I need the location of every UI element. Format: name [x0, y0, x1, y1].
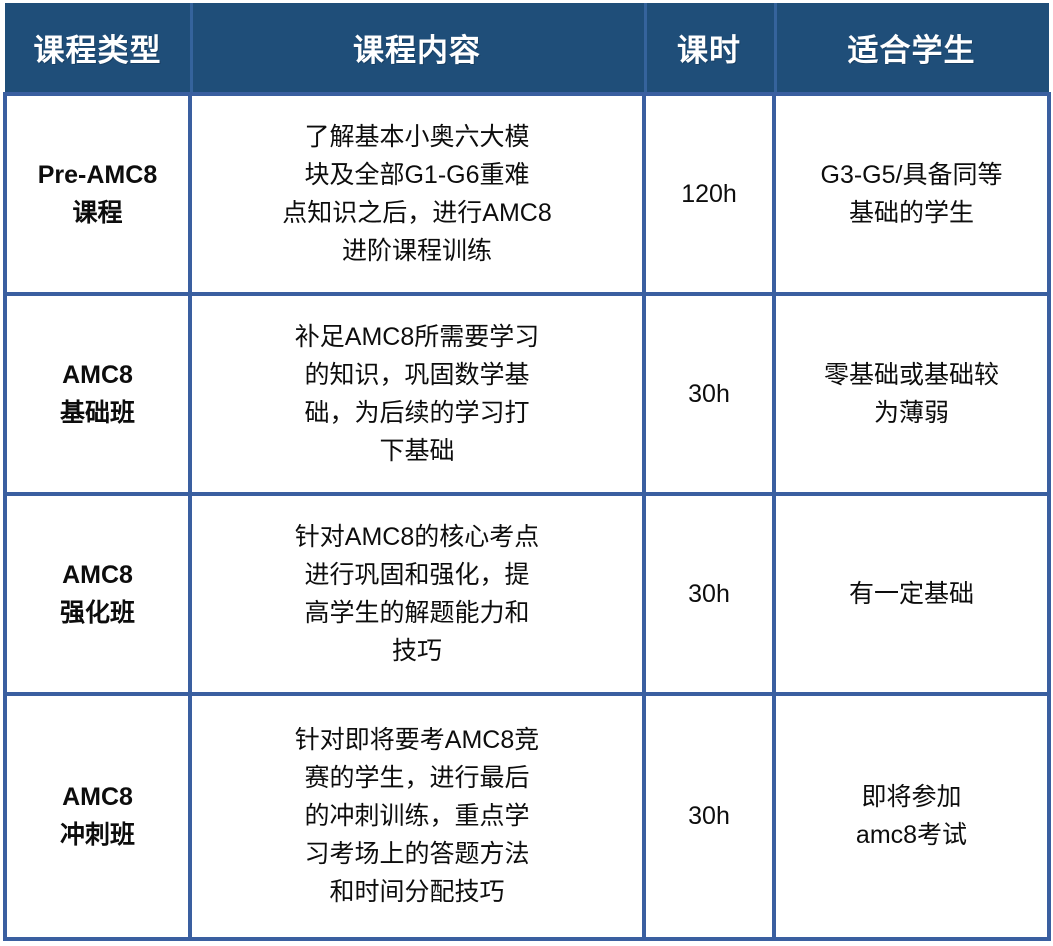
course-content-line: 下基础 [200, 432, 634, 470]
course-content-line: 补足AMC8所需要学习 [200, 318, 634, 356]
suitable-students-line: 即将参加 [784, 778, 1039, 816]
cell-course-content: 补足AMC8所需要学习 的知识，巩固数学基 础，为后续的学习打 下基础 [190, 294, 644, 494]
course-content-line: 础，为后续的学习打 [200, 394, 634, 432]
cell-course-type: AMC8 冲刺班 [5, 694, 190, 939]
cell-course-content: 针对即将要考AMC8竞 赛的学生，进行最后 的冲刺训练，重点学 习考场上的答题方… [190, 694, 644, 939]
course-content-line: 进行巩固和强化，提 [200, 556, 634, 594]
table-row: Pre-AMC8 课程 了解基本小奥六大模 块及全部G1-G6重难 点知识之后，… [5, 94, 1049, 294]
course-content-line: 赛的学生，进行最后 [200, 759, 634, 797]
cell-suitable-students: G3-G5/具备同等 基础的学生 [774, 94, 1049, 294]
course-content-line: 块及全部G1-G6重难 [200, 156, 634, 194]
table-row: AMC8 基础班 补足AMC8所需要学习 的知识，巩固数学基 础，为后续的学习打… [5, 294, 1049, 494]
cell-class-hours: 30h [644, 294, 774, 494]
table-row: AMC8 冲刺班 针对即将要考AMC8竞 赛的学生，进行最后 的冲刺训练，重点学… [5, 694, 1049, 939]
cell-class-hours: 120h [644, 94, 774, 294]
course-content-line: 高学生的解题能力和 [200, 594, 634, 632]
course-type-line: AMC8 [15, 556, 180, 594]
suitable-students-line: 基础的学生 [784, 194, 1039, 232]
course-type-line: Pre-AMC8 [15, 156, 180, 194]
cell-suitable-students: 零基础或基础较 为薄弱 [774, 294, 1049, 494]
column-header-suitable-students: 适合学生 [774, 3, 1049, 94]
cell-course-type: Pre-AMC8 课程 [5, 94, 190, 294]
course-type-line: AMC8 [15, 778, 180, 816]
table-header-row: 课程类型 课程内容 课时 适合学生 [5, 3, 1049, 94]
suitable-students-line: 有一定基础 [784, 575, 1039, 613]
table-row: AMC8 强化班 针对AMC8的核心考点 进行巩固和强化，提 高学生的解题能力和… [5, 494, 1049, 694]
course-type-line: 强化班 [15, 594, 180, 632]
column-header-class-hours: 课时 [644, 3, 774, 94]
suitable-students-line: amc8考试 [784, 816, 1039, 854]
cell-class-hours: 30h [644, 494, 774, 694]
course-content-line: 习考场上的答题方法 [200, 835, 634, 873]
cell-course-type: AMC8 强化班 [5, 494, 190, 694]
cell-suitable-students: 有一定基础 [774, 494, 1049, 694]
course-content-line: 点知识之后，进行AMC8 [200, 194, 634, 232]
course-content-line: 的知识，巩固数学基 [200, 356, 634, 394]
column-header-course-content: 课程内容 [190, 3, 644, 94]
table-body: Pre-AMC8 课程 了解基本小奥六大模 块及全部G1-G6重难 点知识之后，… [5, 94, 1049, 939]
course-type-line: AMC8 [15, 356, 180, 394]
course-type-line: 冲刺班 [15, 816, 180, 854]
suitable-students-line: G3-G5/具备同等 [784, 156, 1039, 194]
cell-class-hours: 30h [644, 694, 774, 939]
course-content-line: 技巧 [200, 632, 634, 670]
suitable-students-line: 零基础或基础较 [784, 356, 1039, 394]
course-type-line: 课程 [15, 194, 180, 232]
cell-course-type: AMC8 基础班 [5, 294, 190, 494]
course-comparison-table: 课程类型 课程内容 课时 适合学生 Pre-AMC8 课程 了解基本小奥六大模 … [3, 3, 1051, 941]
column-header-course-type: 课程类型 [5, 3, 190, 94]
table-header: 课程类型 课程内容 课时 适合学生 [5, 3, 1049, 94]
cell-course-content: 了解基本小奥六大模 块及全部G1-G6重难 点知识之后，进行AMC8 进阶课程训… [190, 94, 644, 294]
course-content-line: 和时间分配技巧 [200, 873, 634, 911]
course-content-line: 针对即将要考AMC8竞 [200, 721, 634, 759]
course-content-line: 针对AMC8的核心考点 [200, 518, 634, 556]
suitable-students-line: 为薄弱 [784, 394, 1039, 432]
course-content-line: 进阶课程训练 [200, 232, 634, 270]
cell-course-content: 针对AMC8的核心考点 进行巩固和强化，提 高学生的解题能力和 技巧 [190, 494, 644, 694]
course-content-line: 了解基本小奥六大模 [200, 118, 634, 156]
course-type-line: 基础班 [15, 394, 180, 432]
course-content-line: 的冲刺训练，重点学 [200, 797, 634, 835]
cell-suitable-students: 即将参加 amc8考试 [774, 694, 1049, 939]
